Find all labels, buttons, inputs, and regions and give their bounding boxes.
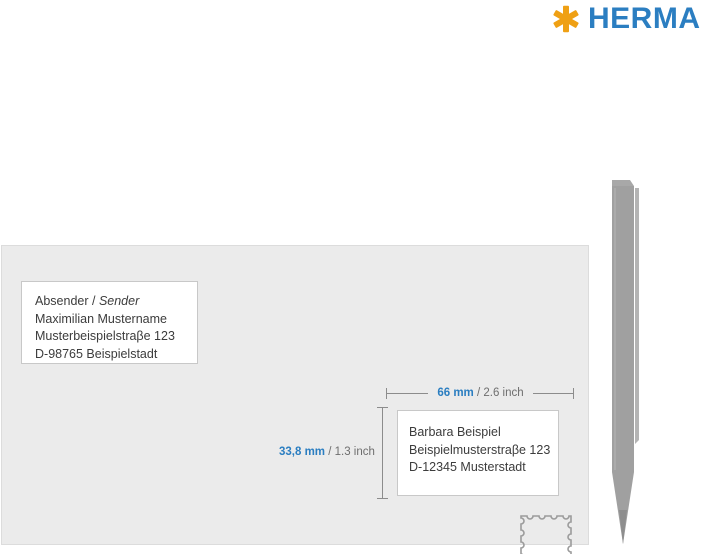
- sender-line-1-emphasis: Sender: [99, 294, 139, 308]
- asterisk-icon: [551, 4, 581, 34]
- width-dimension-line: 66 mm / 2.6 inch: [386, 386, 574, 401]
- height-value-inch: 1.3 inch: [335, 446, 375, 458]
- height-dimension-rule: [382, 407, 383, 499]
- sender-line-3: Musterbeispielstraβe 123: [35, 328, 197, 346]
- sender-line-4: D-98765 Beispielstadt: [35, 346, 197, 364]
- recipient-line-3: D-12345 Musterstadt: [409, 459, 558, 477]
- height-separator: /: [325, 446, 335, 458]
- brand-name: HERMA: [588, 4, 701, 34]
- width-dimension-cap-right: [573, 388, 574, 399]
- recipient-line-1: Barbara Beispiel: [409, 424, 558, 442]
- product-illustration-canvas: HERMA Absender / Sender Maximilian Muste…: [0, 0, 720, 554]
- herma-logo: HERMA: [551, 4, 701, 34]
- height-dimension-label: 33,8 mm / 1.3 inch: [276, 445, 378, 460]
- width-value-mm: 66 mm: [437, 387, 473, 399]
- sender-line-2: Maximilian Mustername: [35, 311, 197, 329]
- sender-line-1: Absender / Sender: [35, 293, 197, 311]
- sender-line-1-prefix: Absender /: [35, 294, 99, 308]
- height-value-mm: 33,8 mm: [279, 446, 325, 458]
- height-dimension-cap-top: [377, 407, 388, 408]
- width-value-inch: 2.6 inch: [483, 387, 523, 399]
- recipient-line-2: Beispielmusterstraβe 123: [409, 442, 558, 460]
- ballpoint-pen-icon: [600, 172, 656, 548]
- sender-address-label: Absender / Sender Maximilian Mustername …: [21, 281, 198, 364]
- recipient-address-label: Barbara Beispiel Beispielmusterstraβe 12…: [397, 410, 559, 496]
- height-dimension-cap-bottom: [377, 498, 388, 499]
- width-dimension-label: 66 mm / 2.6 inch: [428, 386, 533, 401]
- width-dimension-cap-left: [386, 388, 387, 399]
- width-separator: /: [474, 387, 484, 399]
- postage-stamp-icon: [515, 510, 577, 554]
